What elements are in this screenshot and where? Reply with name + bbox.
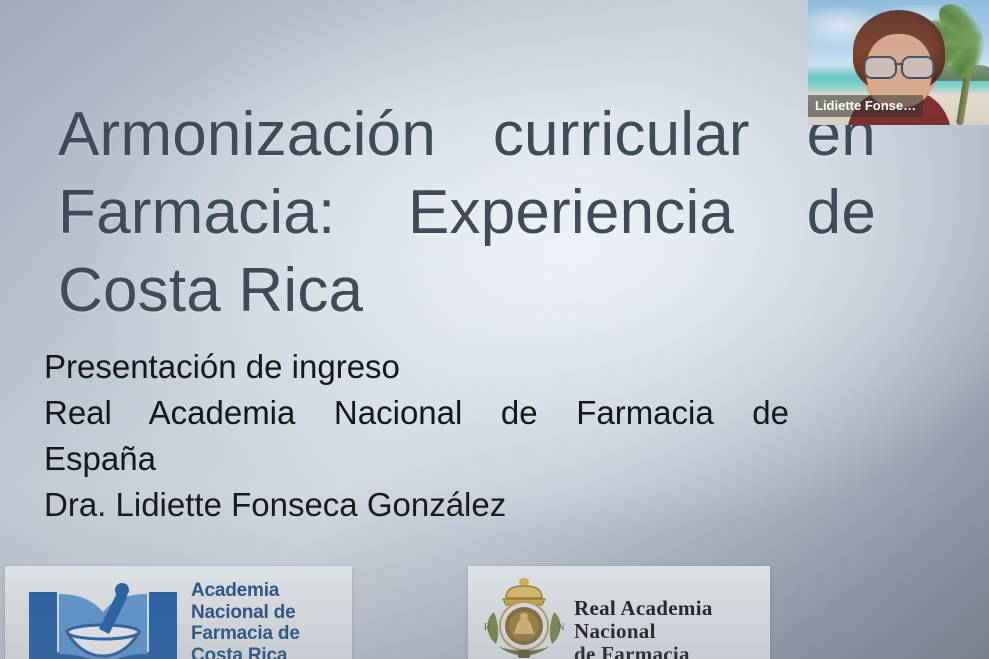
participant-name-label: Lidiette Fonse… xyxy=(808,95,923,117)
royal-crest-icon: R N xyxy=(478,572,570,659)
eyeglasses-icon xyxy=(863,56,935,75)
anfcr-line-3: Farmacia de xyxy=(191,623,300,645)
logo-card-real-academia: R N Real Academia Nacional de Farmacia xyxy=(468,566,770,659)
anfcr-line-4: Costa Rica xyxy=(191,645,300,659)
anfcr-line-1: Academia xyxy=(191,580,300,602)
screen-share-view: Armonización curricular en Farmacia: Exp… xyxy=(0,0,989,659)
slide-subtitle-line-2: Real Academia Nacional de Farmacia de xyxy=(44,390,789,436)
slide-title-line-1: Armonización curricular en xyxy=(58,96,876,174)
slide-subtitle-line-3: España xyxy=(44,436,789,482)
ranf-line-2: Nacional xyxy=(574,620,713,643)
ranf-line-1: Real Academia xyxy=(574,597,713,620)
ranf-line-3: de Farmacia xyxy=(574,643,713,659)
book-mortar-pestle-icon xyxy=(23,574,183,659)
slide-subtitle-line-1: Presentación de ingreso xyxy=(44,344,789,390)
slide-subtitle: Presentación de ingreso Real Academia Na… xyxy=(44,344,789,528)
logo-text-academia-costa-rica: Academia Nacional de Farmacia de Costa R… xyxy=(191,580,300,659)
eyeglass-lens-left xyxy=(863,56,897,79)
logo-text-real-academia: Real Academia Nacional de Farmacia xyxy=(574,597,713,659)
eyeglass-lens-right xyxy=(901,56,935,79)
anfcr-line-2: Nacional de xyxy=(191,602,300,624)
slide-title-line-3: Costa Rica xyxy=(58,252,876,330)
logo-card-academia-costa-rica: Academia Nacional de Farmacia de Costa R… xyxy=(5,566,352,659)
slide-subtitle-line-4: Dra. Lidiette Fonseca González xyxy=(44,482,789,528)
slide-title-line-2: Farmacia: Experiencia de xyxy=(58,174,876,252)
svg-text:N: N xyxy=(558,622,565,632)
slide-title: Armonización curricular en Farmacia: Exp… xyxy=(58,96,876,330)
svg-text:R: R xyxy=(484,622,490,632)
participant-video-tile[interactable]: Lidiette Fonse… xyxy=(808,0,989,125)
